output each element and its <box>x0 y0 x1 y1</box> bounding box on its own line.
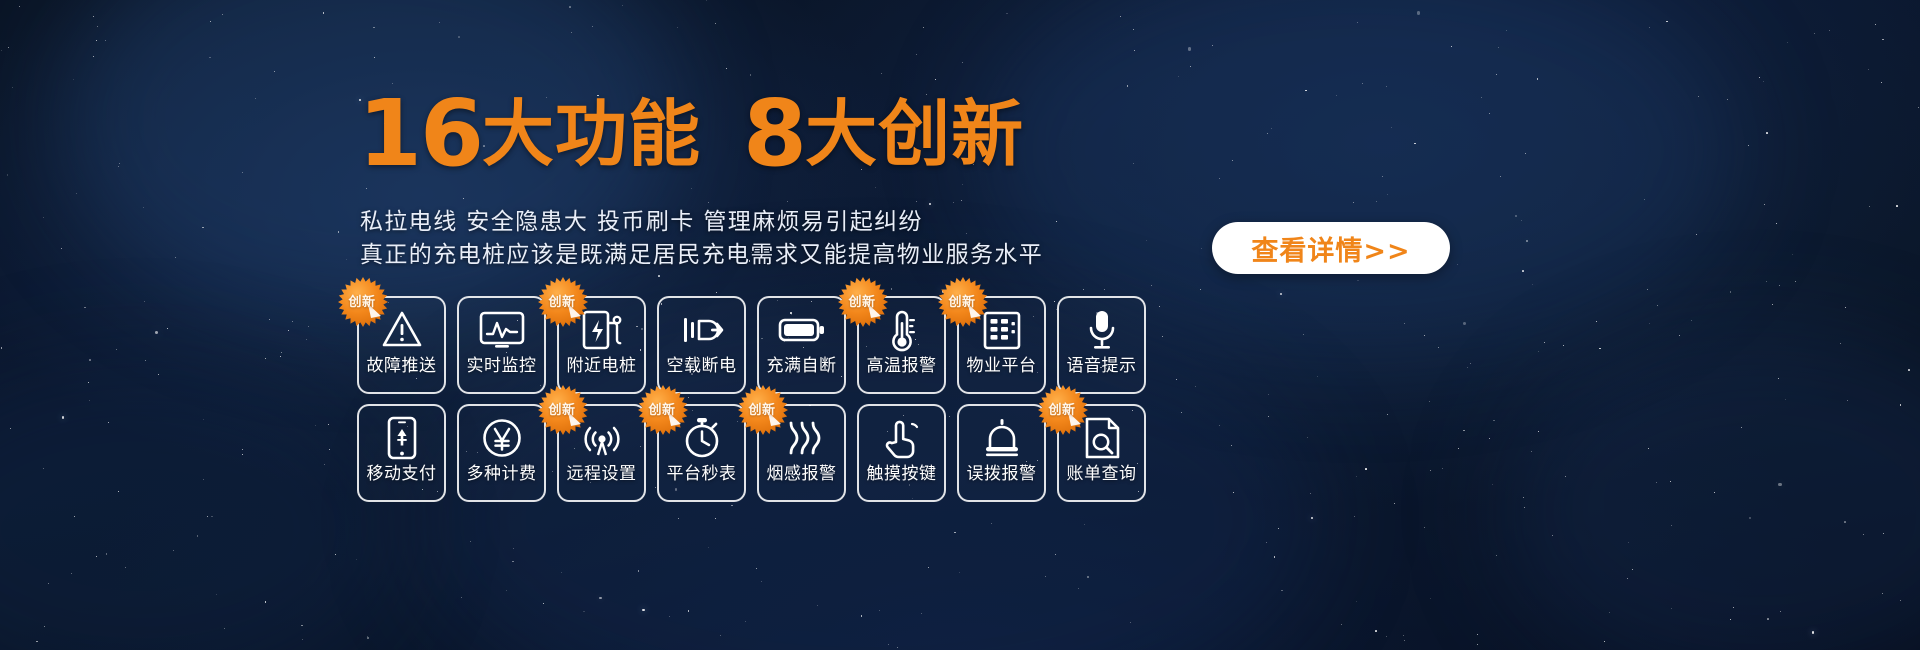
feature-row-2: 移动支付 多种计费 创新 远程设置 创新 平台秒表 <box>357 404 1609 502</box>
feature-card-附近电桩[interactable]: 创新 附近电桩 <box>557 296 646 394</box>
feature-card-label: 语音提示 <box>1067 358 1137 375</box>
feature-card-label: 故障推送 <box>367 358 437 375</box>
feature-card-物业平台[interactable]: 创新 物业平台 <box>957 296 1046 394</box>
nebula-glow <box>0 360 400 650</box>
subtitle-line-2: 真正的充电桩应该是既满足居民充电需求又能提高物业服务水平 <box>360 239 1043 272</box>
promo-banner: 16大功能8大创新 私拉电线 安全隐患大 投币刷卡 管理麻烦易引起纠纷 真正的充… <box>0 0 1920 650</box>
feature-card-label: 远程设置 <box>567 466 637 483</box>
building-icon <box>959 298 1044 356</box>
feature-card-误拨报警[interactable]: 误拨报警 <box>957 404 1046 502</box>
headline: 16大功能8大创新 <box>358 88 1024 180</box>
feature-card-高温报警[interactable]: 创新 高温报警 <box>857 296 946 394</box>
monitor-waveform-icon <box>459 298 544 356</box>
wireless-signal-icon <box>559 406 644 464</box>
warning-triangle-icon <box>359 298 444 356</box>
feature-card-label: 平台秒表 <box>667 466 737 483</box>
charging-station-icon <box>559 298 644 356</box>
feature-card-label: 烟感报警 <box>767 466 837 483</box>
feature-card-触摸按键[interactable]: 触摸按键 <box>857 404 946 502</box>
bill-search-icon <box>1059 406 1144 464</box>
microphone-icon <box>1059 298 1144 356</box>
stopwatch-icon <box>659 406 744 464</box>
feature-card-label: 物业平台 <box>967 358 1037 375</box>
plug-power-off-icon <box>659 298 744 356</box>
feature-card-label: 空载断电 <box>667 358 737 375</box>
feature-card-语音提示[interactable]: 语音提示 <box>1057 296 1146 394</box>
subtitle: 私拉电线 安全隐患大 投币刷卡 管理麻烦易引起纠纷 真正的充电桩应该是既满足居民… <box>360 206 1043 272</box>
feature-card-实时监控[interactable]: 实时监控 <box>457 296 546 394</box>
mobile-payment-icon <box>359 406 444 464</box>
yuan-currency-icon <box>459 406 544 464</box>
feature-card-label: 误拨报警 <box>967 466 1037 483</box>
feature-card-烟感报警[interactable]: 创新 烟感报警 <box>757 404 846 502</box>
feature-card-label: 触摸按键 <box>867 466 937 483</box>
headline-text-innovations: 大创新 <box>805 92 1024 176</box>
headline-number-8: 8 <box>743 80 805 187</box>
feature-card-平台秒表[interactable]: 创新 平台秒表 <box>657 404 746 502</box>
feature-card-账单查询[interactable]: 创新 账单查询 <box>1057 404 1146 502</box>
feature-card-充满自断[interactable]: 充满自断 <box>757 296 846 394</box>
feature-card-label: 账单查询 <box>1067 466 1137 483</box>
battery-full-icon <box>759 298 844 356</box>
feature-grid: 创新 故障推送 实时监控 创新 附近电桩 空载断电 充满自断 <box>357 296 1609 512</box>
thermometer-icon <box>859 298 944 356</box>
feature-row-1: 创新 故障推送 实时监控 创新 附近电桩 空载断电 充满自断 <box>357 296 1609 394</box>
feature-card-label: 充满自断 <box>767 358 837 375</box>
feature-card-远程设置[interactable]: 创新 远程设置 <box>557 404 646 502</box>
feature-card-label: 实时监控 <box>467 358 537 375</box>
alarm-bell-icon <box>959 406 1044 464</box>
feature-card-故障推送[interactable]: 创新 故障推送 <box>357 296 446 394</box>
feature-card-label: 移动支付 <box>367 466 437 483</box>
view-details-button[interactable]: 查看详情>> <box>1212 222 1450 274</box>
feature-card-空载断电[interactable]: 空载断电 <box>657 296 746 394</box>
feature-card-label: 附近电桩 <box>567 358 637 375</box>
subtitle-line-1: 私拉电线 安全隐患大 投币刷卡 管理麻烦易引起纠纷 <box>360 206 1043 239</box>
feature-card-移动支付[interactable]: 移动支付 <box>357 404 446 502</box>
headline-text-functions: 大功能 <box>482 92 701 176</box>
smoke-detector-icon <box>759 406 844 464</box>
feature-card-多种计费[interactable]: 多种计费 <box>457 404 546 502</box>
headline-number-16: 16 <box>358 80 482 187</box>
touch-hand-icon <box>859 406 944 464</box>
feature-card-label: 多种计费 <box>467 466 537 483</box>
feature-card-label: 高温报警 <box>867 358 937 375</box>
